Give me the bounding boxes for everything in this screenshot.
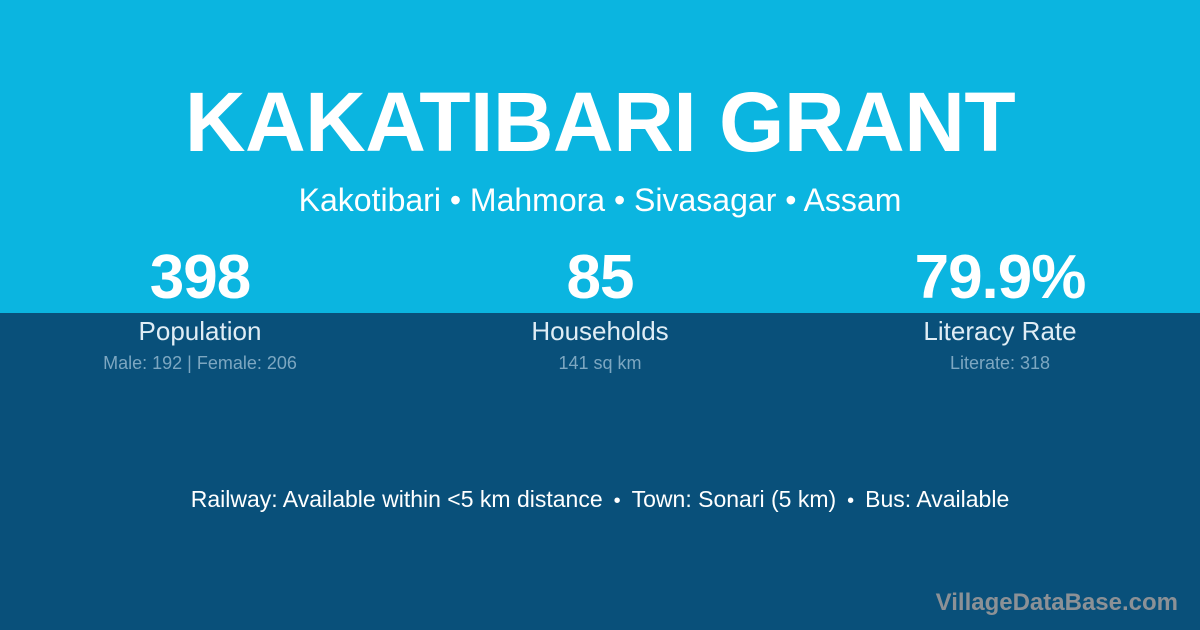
- info-railway: Railway: Available within <5 km distance: [191, 486, 603, 512]
- breadcrumb: Kakotibari • Mahmora • Sivasagar • Assam: [0, 180, 1200, 220]
- bullet-separator-icon: •: [603, 486, 632, 516]
- stat-population: 398 Population Male: 192 | Female: 206: [0, 243, 400, 374]
- info-bus: Bus: Available: [865, 486, 1009, 512]
- stat-value: 85: [400, 243, 800, 313]
- page-title: KAKATIBARI GRANT: [0, 76, 1200, 168]
- stat-value: 398: [0, 243, 400, 313]
- stat-literacy-rate: 79.9% Literacy Rate Literate: 318: [800, 243, 1200, 374]
- stats-row: 398 Population Male: 192 | Female: 206 8…: [0, 243, 1200, 374]
- site-watermark: VillageDataBase.com: [936, 588, 1178, 618]
- stat-households: 85 Households 141 sq km: [400, 243, 800, 374]
- info-town: Town: Sonari (5 km): [632, 486, 837, 512]
- stat-value: 79.9%: [800, 243, 1200, 313]
- village-info-card: KAKATIBARI GRANT Kakotibari • Mahmora • …: [0, 0, 1200, 630]
- stat-label: Households: [400, 315, 800, 347]
- amenities-line: Railway: Available within <5 km distance…: [0, 484, 1200, 516]
- bullet-separator-icon: •: [836, 486, 865, 516]
- stat-sublabel: Literate: 318: [800, 352, 1200, 374]
- stat-sublabel: 141 sq km: [400, 352, 800, 374]
- stat-label: Population: [0, 315, 400, 347]
- stat-label: Literacy Rate: [800, 315, 1200, 347]
- stat-sublabel: Male: 192 | Female: 206: [0, 352, 400, 374]
